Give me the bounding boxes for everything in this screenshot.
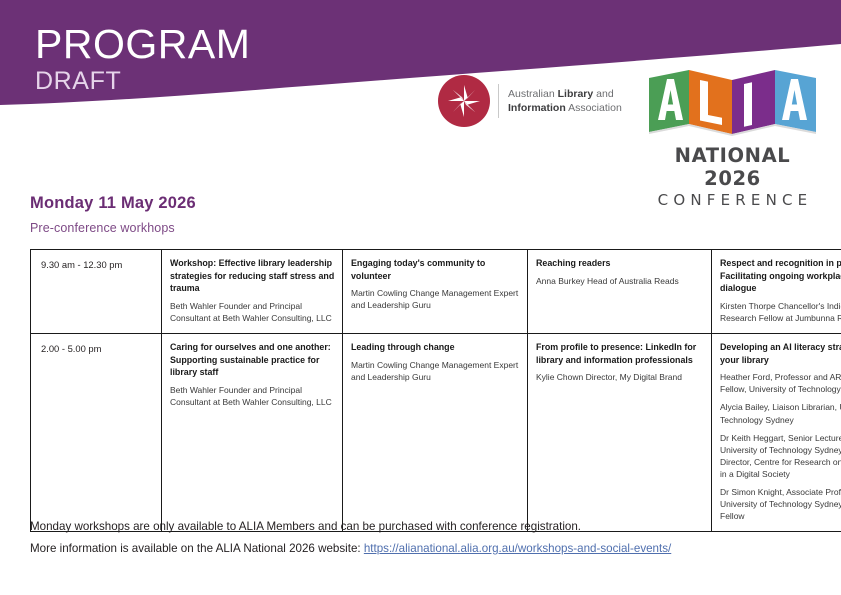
session-speaker: Martin Cowling Change Management Expert … bbox=[351, 287, 520, 311]
footer-website-prefix: More information is available on the ALI… bbox=[30, 542, 364, 555]
alia-folded-banner-icon bbox=[645, 68, 820, 140]
session-title: Developing an AI literacy strategy for y… bbox=[720, 341, 841, 366]
footer-note-members: Monday workshops are only available to A… bbox=[30, 521, 820, 533]
session-cell[interactable]: Leading through change Martin Cowling Ch… bbox=[343, 334, 528, 532]
page-subtitle-draft: DRAFT bbox=[35, 68, 250, 94]
session-title: Reaching readers bbox=[536, 257, 704, 270]
program-table: 9.30 am - 12.30 pm Workshop: Effective l… bbox=[30, 249, 841, 532]
alia-national-conference-logo: NATIONAL 2026 CONFERENCE bbox=[645, 68, 820, 209]
alia-word-association: Association bbox=[566, 102, 622, 114]
session-title: Respect and recognition in practice: Fac… bbox=[720, 257, 841, 295]
footer-note-website: More information is available on the ALI… bbox=[30, 543, 820, 555]
alia-wordmark-line1: Australian Library and bbox=[508, 87, 622, 101]
session-speaker: Martin Cowling Change Management Expert … bbox=[351, 359, 520, 383]
alia-wordmark: Australian Library and Information Assoc… bbox=[508, 87, 622, 115]
table-row: 9.30 am - 12.30 pm Workshop: Effective l… bbox=[31, 250, 841, 334]
program-table-body: 9.30 am - 12.30 pm Workshop: Effective l… bbox=[31, 250, 841, 532]
session-speaker: Dr Keith Heggart, Senior Lecturer, Unive… bbox=[720, 432, 841, 480]
session-cell[interactable]: Engaging today's community to volunteer … bbox=[343, 250, 528, 334]
logo-divider bbox=[498, 84, 499, 118]
page-title: PROGRAM bbox=[35, 24, 250, 65]
session-cell[interactable]: Developing an AI literacy strategy for y… bbox=[712, 334, 841, 532]
header-titles: PROGRAM DRAFT bbox=[35, 24, 250, 94]
session-cell[interactable]: Caring for ourselves and one another: Su… bbox=[162, 334, 343, 532]
day-subheading: Pre-conference workhops bbox=[30, 221, 175, 235]
session-title: From profile to presence: LinkedIn for l… bbox=[536, 341, 704, 366]
time-slot-cell: 2.00 - 5.00 pm bbox=[31, 334, 162, 532]
session-title: Engaging today's community to volunteer bbox=[351, 257, 520, 282]
session-speaker: Kirsten Thorpe Chancellor's Indigenous R… bbox=[720, 300, 841, 324]
conference-logo-national: NATIONAL 2026 bbox=[645, 144, 820, 190]
session-cell[interactable]: Workshop: Effective library leadership s… bbox=[162, 250, 343, 334]
table-row: 2.00 - 5.00 pm Caring for ourselves and … bbox=[31, 334, 841, 532]
alia-word-and: and bbox=[593, 88, 613, 100]
session-title: Caring for ourselves and one another: Su… bbox=[170, 341, 335, 379]
session-cell[interactable]: Respect and recognition in practice: Fac… bbox=[712, 250, 841, 334]
footer: Monday workshops are only available to A… bbox=[30, 521, 820, 554]
alia-word-australian: Australian bbox=[508, 88, 558, 100]
session-speaker: Kylie Chown Director, My Digital Brand bbox=[536, 371, 704, 383]
workshops-and-social-events-link[interactable]: https://alianational.alia.org.au/worksho… bbox=[364, 542, 671, 555]
session-speaker: Dr Simon Knight, Associate Professor, Un… bbox=[720, 486, 841, 522]
session-speaker: Anna Burkey Head of Australia Reads bbox=[536, 275, 704, 287]
session-cell[interactable]: From profile to presence: LinkedIn for l… bbox=[528, 334, 712, 532]
alia-word-library: Library bbox=[558, 88, 594, 100]
day-heading: Monday 11 May 2026 bbox=[30, 194, 196, 213]
session-cell[interactable]: Reaching readers Anna Burkey Head of Aus… bbox=[528, 250, 712, 334]
alia-word-information: Information bbox=[508, 102, 566, 114]
time-slot-cell: 9.30 am - 12.30 pm bbox=[31, 250, 162, 334]
session-speaker: Beth Wahler Founder and Principal Consul… bbox=[170, 300, 335, 324]
alia-association-logo: Australian Library and Information Assoc… bbox=[438, 75, 622, 127]
session-title: Workshop: Effective library leadership s… bbox=[170, 257, 335, 295]
alia-star-roundel-icon bbox=[438, 75, 490, 127]
session-speaker: Beth Wahler Founder and Principal Consul… bbox=[170, 384, 335, 408]
session-title: Leading through change bbox=[351, 341, 520, 354]
conference-logo-conference: CONFERENCE bbox=[645, 191, 820, 209]
session-speaker: Alycia Bailey, Liaison Librarian, Univer… bbox=[720, 401, 841, 425]
alia-wordmark-line2: Information Association bbox=[508, 101, 622, 115]
session-speaker: Heather Ford, Professor and ARC Future F… bbox=[720, 371, 841, 395]
